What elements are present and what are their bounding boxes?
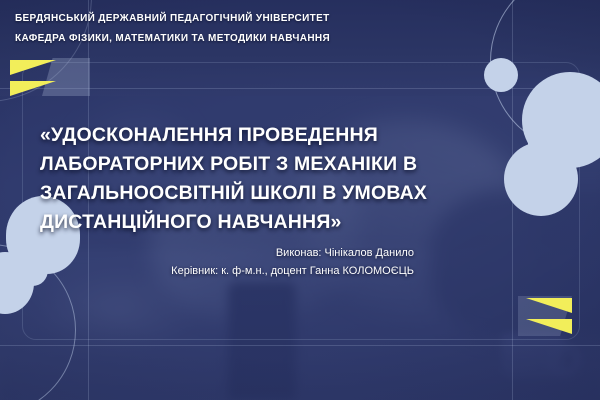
yellow-triangle-right-icon-2 [10,81,56,96]
author-line: Виконав: Чінікалов Данило [0,244,414,262]
blob-circle-icon-right-small [484,58,518,92]
presentation-title-slide: БЕРДЯНСЬКИЙ ДЕРЖАВНИЙ ПЕДАГОГІЧНИЙ УНІВЕ… [0,0,600,400]
yellow-triangle-right-icon-1 [10,60,56,75]
supervisor-line: Керівник: к. ф-м.н., доцент Ганна КОЛОМО… [0,262,414,280]
yellow-triangle-left-icon-1 [526,298,572,313]
yellow-triangle-left-icon-2 [526,319,572,334]
institution-name: БЕРДЯНСЬКИЙ ДЕРЖАВНИЙ ПЕДАГОГІЧНИЙ УНІВЕ… [15,9,330,29]
institution-header: БЕРДЯНСЬКИЙ ДЕРЖАВНИЙ ПЕДАГОГІЧНИЙ УНІВЕ… [15,9,330,49]
yellow-triangle-group-top-left [10,60,56,96]
page-title: «УДОСКОНАЛЕННЯ ПРОВЕДЕННЯ ЛАБОРАТОРНИХ Р… [40,121,520,237]
yellow-triangle-group-bottom-right [526,298,572,334]
credits-block: Виконав: Чінікалов Данило Керівник: к. ф… [0,244,414,280]
department-name: КАФЕДРА ФІЗИКИ, МАТЕМАТИКИ ТА МЕТОДИКИ Н… [15,29,330,49]
guide-line-horizontal-bottom [0,345,600,346]
